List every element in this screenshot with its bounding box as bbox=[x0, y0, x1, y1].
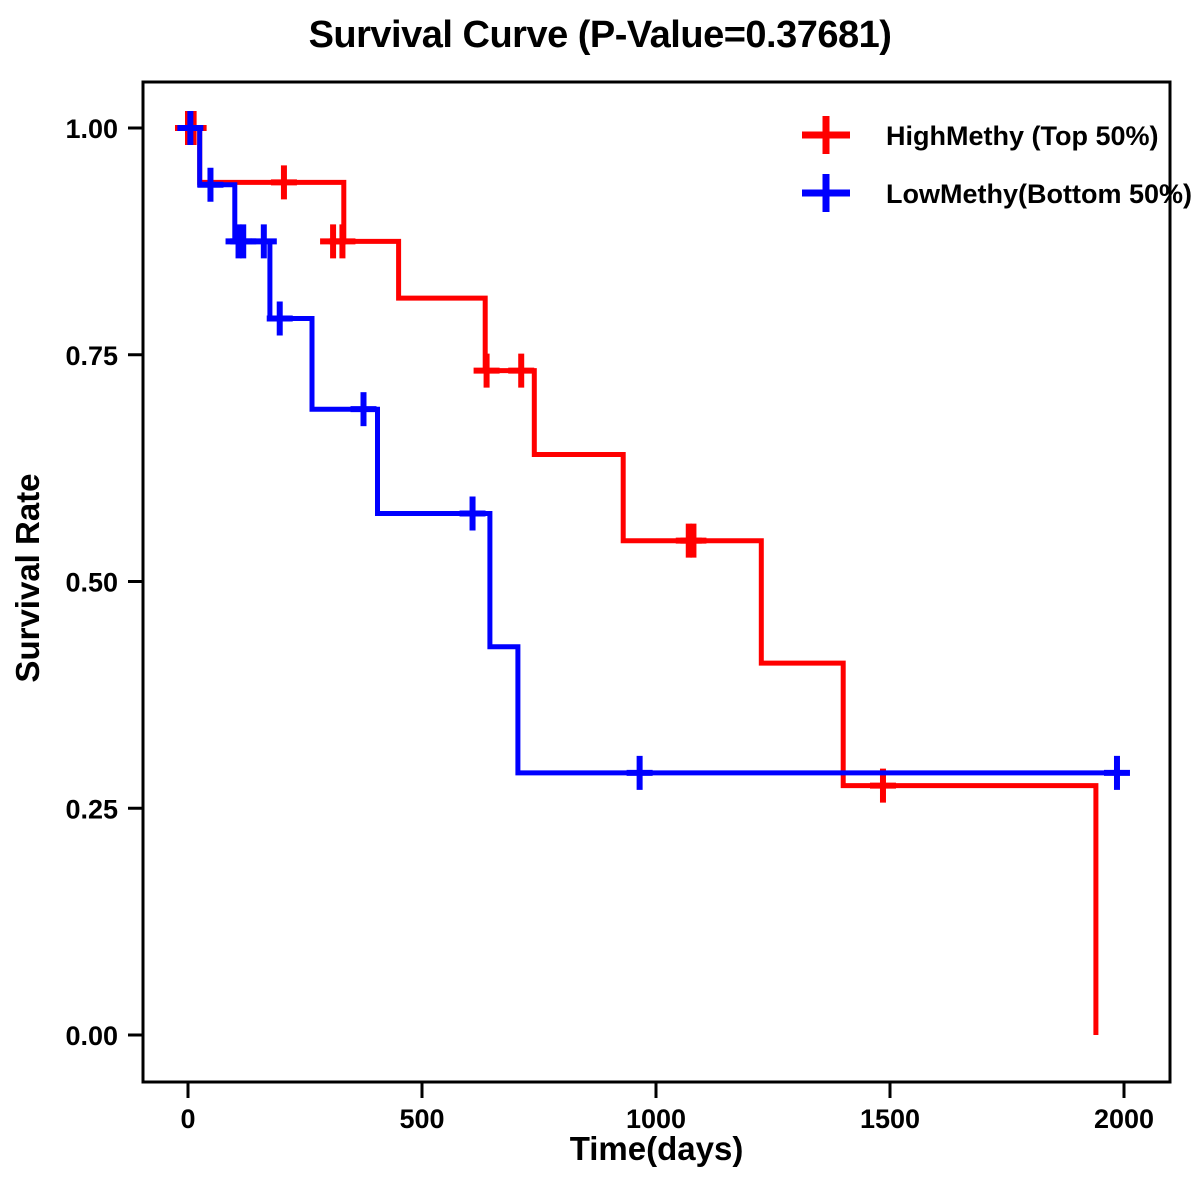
legend-item-high-methy[interactable]: HighMethy (Top 50%) bbox=[802, 116, 1159, 154]
censor-mark bbox=[251, 224, 277, 258]
censor-mark bbox=[460, 496, 486, 530]
plot-area: 0.000.250.500.751.00 0500100015002000 Hi… bbox=[0, 0, 1200, 1200]
series-low-methy bbox=[177, 111, 1130, 790]
y-tick-label: 0.75 bbox=[65, 341, 118, 371]
y-tick-label: 0.50 bbox=[65, 568, 118, 598]
x-tick-label: 0 bbox=[180, 1104, 195, 1134]
x-axis-ticks: 0500100015002000 bbox=[180, 1082, 1154, 1134]
y-tick-label: 1.00 bbox=[65, 114, 118, 144]
survival-curve-figure: Survival Curve (P-Value=0.37681) Surviva… bbox=[0, 0, 1200, 1200]
survival-step-line bbox=[188, 128, 1117, 773]
censor-mark bbox=[508, 354, 534, 388]
x-tick-label: 1000 bbox=[626, 1104, 686, 1134]
legend-label: LowMethy(Bottom 50%) bbox=[886, 179, 1192, 209]
y-tick-label: 0.25 bbox=[65, 794, 118, 824]
plot-frame bbox=[143, 82, 1170, 1082]
y-axis-ticks: 0.000.250.500.751.00 bbox=[65, 114, 143, 1051]
censor-mark bbox=[627, 756, 653, 790]
y-tick-label: 0.00 bbox=[65, 1021, 118, 1051]
censor-mark bbox=[680, 524, 706, 558]
censor-mark bbox=[474, 354, 500, 388]
legend-item-low-methy[interactable]: LowMethy(Bottom 50%) bbox=[802, 174, 1192, 212]
survival-step-line bbox=[188, 128, 1096, 1035]
x-tick-label: 2000 bbox=[1094, 1104, 1154, 1134]
series-high-methy bbox=[175, 111, 1096, 1035]
legend-label: HighMethy (Top 50%) bbox=[886, 121, 1159, 151]
series-layer bbox=[175, 111, 1130, 1035]
x-tick-label: 1500 bbox=[860, 1104, 920, 1134]
x-tick-label: 500 bbox=[399, 1104, 444, 1134]
chart-legend: HighMethy (Top 50%)LowMethy(Bottom 50%) bbox=[802, 116, 1192, 212]
censor-mark bbox=[271, 165, 297, 199]
censor-mark bbox=[351, 392, 377, 426]
censor-mark bbox=[1104, 756, 1130, 790]
